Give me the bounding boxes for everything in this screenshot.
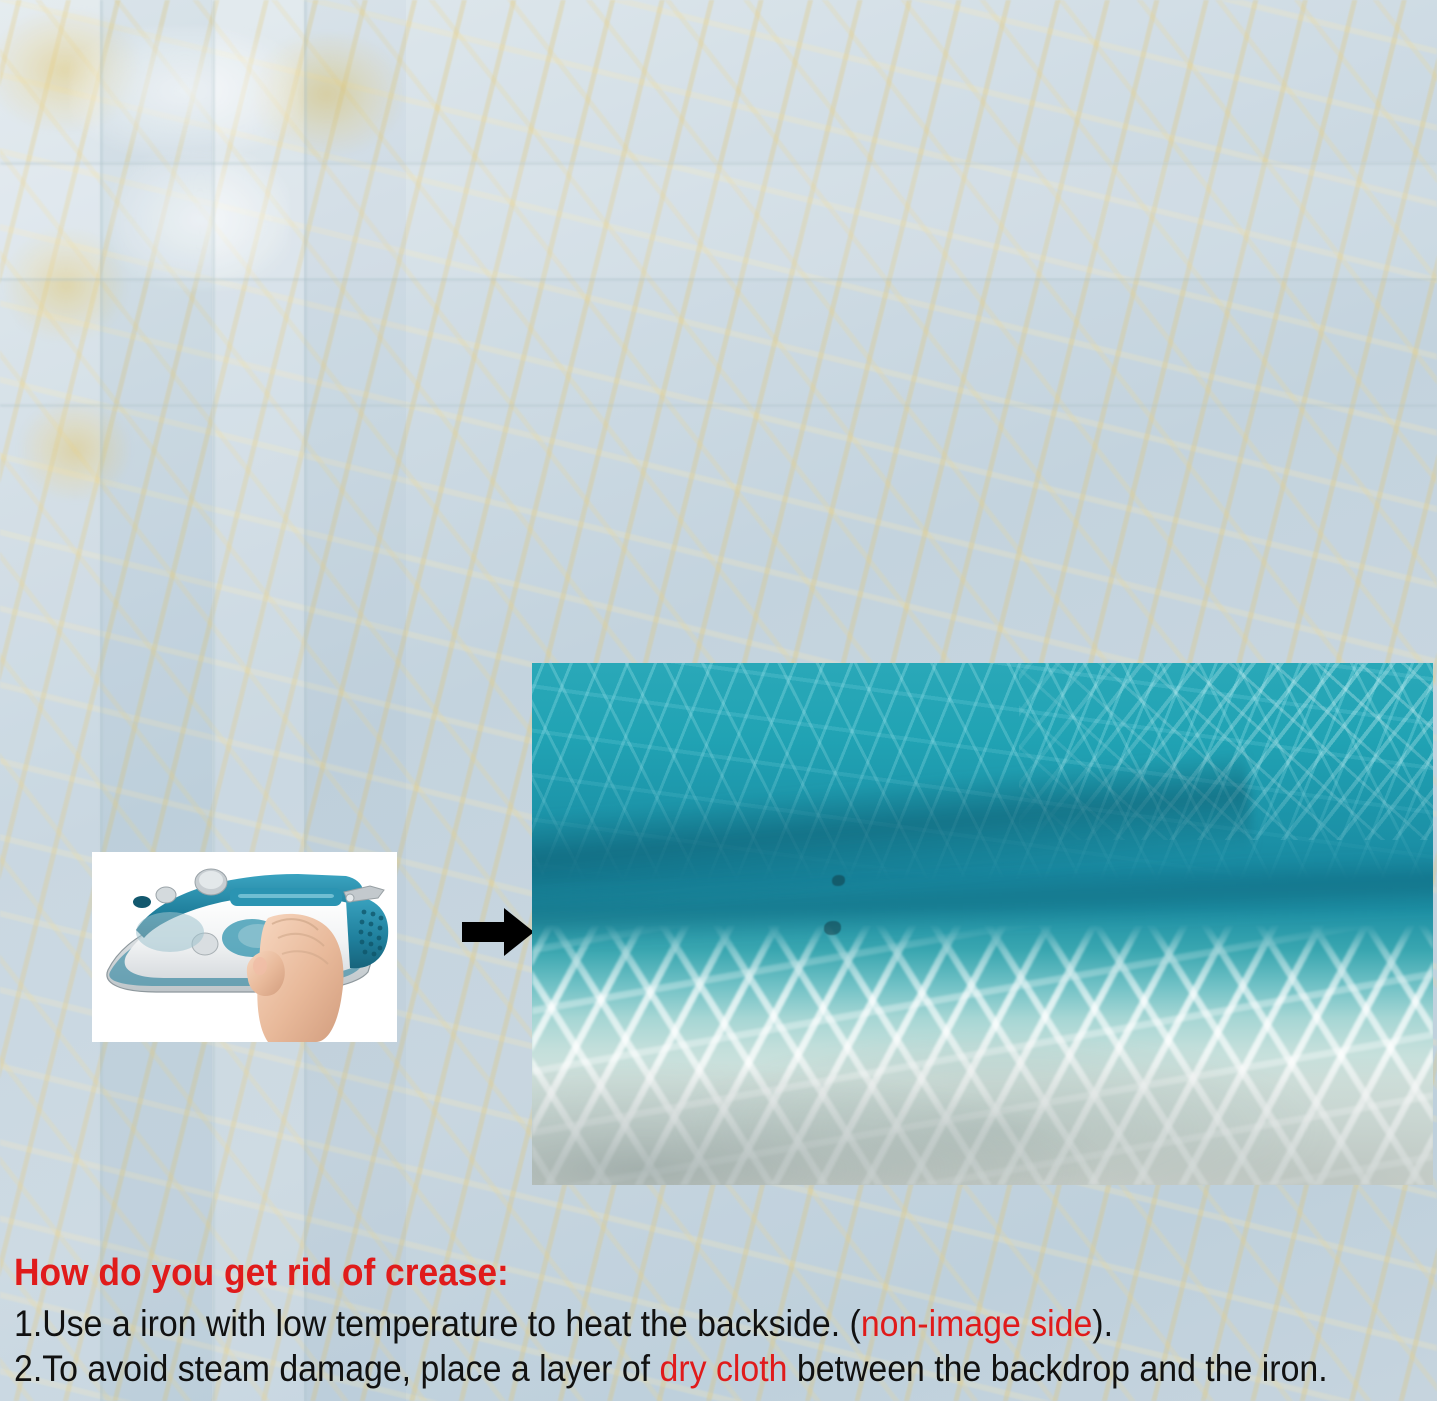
right-arrow-icon (462, 908, 534, 956)
product-instruction-page: R e c e i v e d Polyester (0, 0, 1437, 1401)
care-step-1-highlight: non-image side (861, 1303, 1092, 1344)
iron-water-tank (136, 912, 204, 952)
arrow-shaft (462, 922, 506, 942)
care-instructions: How do you get rid of crease: 1.Use a ir… (14, 1252, 1434, 1391)
care-step-1: 1.Use a iron with low temperature to hea… (14, 1301, 1313, 1346)
backside-highlight (110, 150, 290, 290)
care-step-1-pre: 1.Use a iron with low temperature to hea… (14, 1303, 861, 1344)
iron-spray-nozzle (133, 896, 151, 908)
fish-silhouette (832, 875, 845, 886)
iron-temp-dial-top (199, 871, 223, 889)
iron-rear-housing (346, 896, 388, 968)
care-step-2-pre: 2.To avoid steam damage, place a layer o… (14, 1348, 660, 1389)
thumb (247, 951, 285, 996)
gold-blotch (6, 230, 126, 340)
steam-iron-photo (92, 852, 397, 1042)
backside-highlight (70, 26, 300, 156)
seabed-shading (532, 987, 1433, 1185)
iron-demo-card (92, 852, 397, 1042)
gold-blotch (20, 400, 130, 500)
care-step-2-highlight: dry cloth (660, 1348, 788, 1389)
fish-silhouette (824, 921, 841, 935)
care-instructions-heading: How do you get rid of crease: (14, 1252, 1335, 1295)
thumb-nail (253, 957, 267, 975)
backdrop-backside-panel (0, 0, 406, 517)
iron-cord-pivot (346, 894, 354, 902)
care-step-2: 2.To avoid steam damage, place a layer o… (14, 1346, 1313, 1391)
iron-steam-button (156, 887, 176, 903)
iron-handle-slot-line (238, 894, 334, 898)
steam-iron-icon (92, 852, 397, 1042)
care-step-1-post: ). (1092, 1303, 1113, 1344)
care-step-2-post: between the backdrop and the iron. (787, 1348, 1327, 1389)
after-backdrop-photo (532, 663, 1433, 1185)
arrow-head (504, 908, 534, 956)
